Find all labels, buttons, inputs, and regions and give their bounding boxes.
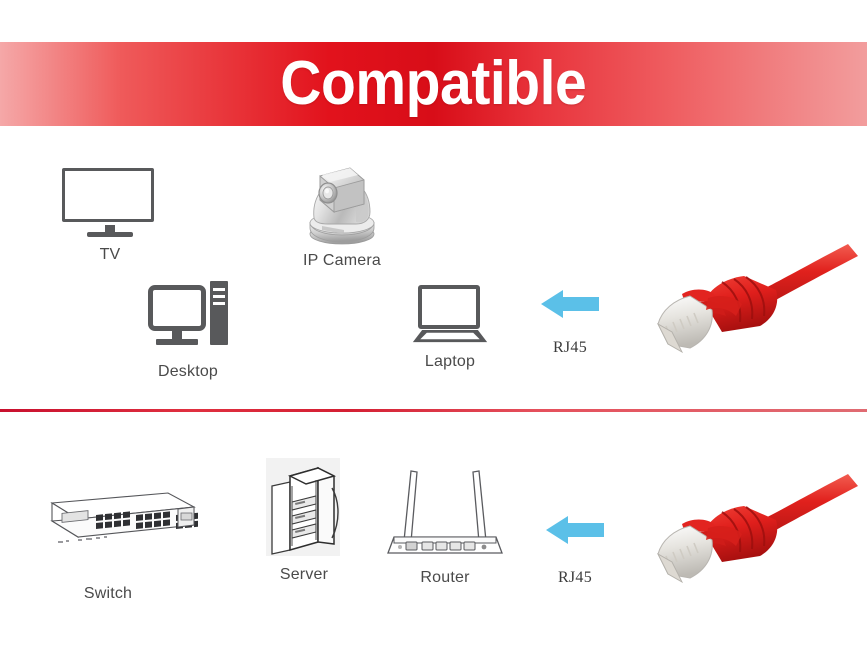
header-banner: Compatible	[0, 42, 867, 126]
compatibility-diagram: Compatible TV	[0, 0, 867, 650]
device-label-desktop: Desktop	[148, 363, 228, 381]
device-label-server: Server	[266, 566, 342, 584]
wifi-router-svg	[380, 463, 510, 559]
connector-label-rj45-bottom: RJ45	[546, 569, 604, 587]
tv-screen-shape	[62, 168, 154, 222]
rj45-cable-svg	[648, 462, 867, 592]
device-label-laptop: Laptop	[410, 353, 490, 371]
arrow-left-icon	[541, 287, 599, 321]
tv-base-shape	[87, 232, 133, 237]
device-laptop: Laptop	[410, 285, 490, 371]
tower-slot	[213, 295, 225, 298]
rj45-cable-icon	[648, 462, 867, 592]
rj45-cable-svg	[648, 232, 867, 362]
device-router: Router	[380, 463, 510, 587]
rj45-pointer-top: RJ45	[541, 287, 599, 357]
tower-slot	[213, 302, 225, 305]
server-rack-icon	[266, 458, 342, 558]
banner-title: Compatible	[281, 53, 587, 115]
desktop-monitor-shape	[148, 285, 206, 331]
server-rack-svg	[266, 458, 342, 558]
arrow-left-svg	[546, 513, 604, 547]
section-divider	[0, 409, 867, 412]
device-ip-camera: IP Camera	[300, 160, 384, 270]
device-label-tv: TV	[62, 246, 158, 264]
tv-icon	[62, 168, 158, 240]
device-tv: TV	[62, 168, 158, 264]
network-switch-svg	[18, 487, 198, 559]
device-label-router: Router	[380, 569, 510, 587]
device-label-switch: Switch	[18, 585, 198, 603]
ip-camera-svg	[300, 160, 384, 246]
tower-slot	[213, 288, 225, 291]
rj45-pointer-bottom: RJ45	[546, 513, 604, 587]
connector-label-rj45-top: RJ45	[541, 339, 599, 357]
rj45-cable-top	[648, 232, 867, 362]
laptop-base-shape	[410, 330, 490, 343]
desktop-base-shape	[156, 339, 198, 345]
device-label-ip-camera: IP Camera	[300, 252, 384, 270]
wifi-router-icon	[380, 463, 510, 559]
device-desktop: Desktop	[148, 281, 228, 381]
network-switch-icon	[18, 487, 198, 559]
rj45-cable-icon	[648, 232, 867, 362]
ip-camera-icon	[300, 160, 384, 246]
desktop-computer-icon	[148, 281, 228, 357]
laptop-screen-shape	[418, 285, 480, 329]
arrow-left-svg	[541, 287, 599, 321]
device-switch: Switch	[18, 487, 198, 603]
desktop-tower-shape	[210, 281, 228, 345]
device-server: Server	[266, 458, 342, 584]
laptop-icon	[410, 285, 490, 347]
rj45-cable-bottom	[648, 462, 867, 592]
arrow-left-icon	[546, 513, 604, 547]
